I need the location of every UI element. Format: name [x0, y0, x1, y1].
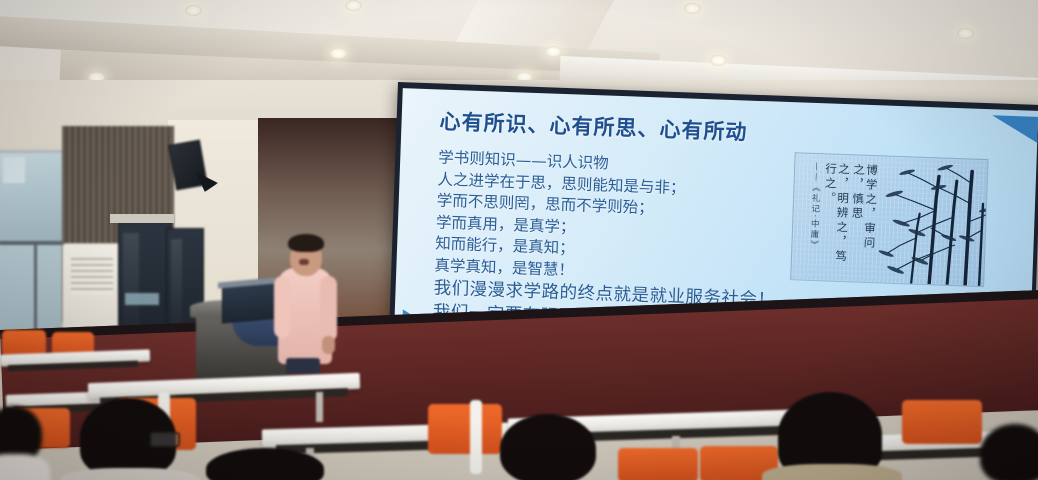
- glasses-icon: [150, 432, 180, 447]
- student-shoulders: [60, 468, 200, 480]
- downlight-icon: [545, 46, 562, 57]
- presenter-arm-right: [320, 276, 337, 342]
- desk-leg: [316, 392, 323, 422]
- student-shoulders: [762, 464, 902, 480]
- student-hair: [500, 414, 596, 480]
- presenter-hand: [322, 336, 335, 354]
- chair[interactable]: [2, 330, 46, 356]
- student-left-edge: [0, 406, 42, 480]
- bamboo-painting-icon: [867, 156, 988, 286]
- student-with-glasses: [76, 398, 180, 480]
- chair-frame: [470, 400, 482, 474]
- downlight-icon: [710, 55, 727, 66]
- ac-vent-grille: [71, 258, 113, 294]
- downlight-icon: [345, 0, 362, 11]
- calligraphy-column: 之，明辨之，笃行之。: [820, 162, 850, 275]
- calligraphy-column: 博学之，审问之，慎思: [848, 163, 878, 276]
- student-hair: [206, 448, 324, 480]
- student-right-back: [980, 424, 1038, 480]
- downlight-icon: [684, 3, 701, 14]
- presenter-hair: [288, 234, 324, 252]
- presenter: [272, 232, 342, 372]
- calligraphy-text: 博学之，审问之，慎思 之，明辨之，笃行之。 ——《礼记·中庸》: [805, 162, 878, 276]
- downlight-icon: [957, 28, 974, 39]
- downlight-icon: [330, 48, 347, 59]
- presenter-arm-left: [274, 276, 290, 338]
- presenter-trousers: [286, 358, 320, 374]
- downlight-icon: [185, 5, 202, 16]
- student-far-right: [772, 392, 888, 480]
- presenter-mouth: [299, 259, 309, 265]
- lecture-hall-scene: 心有所识、心有所思、心有所动 学书则知识——识人识物 人之进学在于思，思则能知是…: [0, 0, 1038, 480]
- calligraphy-source: ——《礼记·中庸》: [806, 162, 822, 251]
- student-right: [206, 448, 324, 480]
- chair[interactable]: [428, 404, 502, 454]
- cabinet-top-item: [110, 214, 174, 223]
- student-center: [500, 414, 596, 480]
- chair[interactable]: [618, 448, 698, 480]
- chair[interactable]: [902, 400, 982, 444]
- calligraphy-artwork: 博学之，审问之，慎思 之，明辨之，笃行之。 ——《礼记·中庸》: [790, 152, 988, 287]
- triangle-decoration-top-right: [991, 115, 1038, 143]
- slide-title: 心有所识、心有所思、心有所动: [439, 106, 748, 147]
